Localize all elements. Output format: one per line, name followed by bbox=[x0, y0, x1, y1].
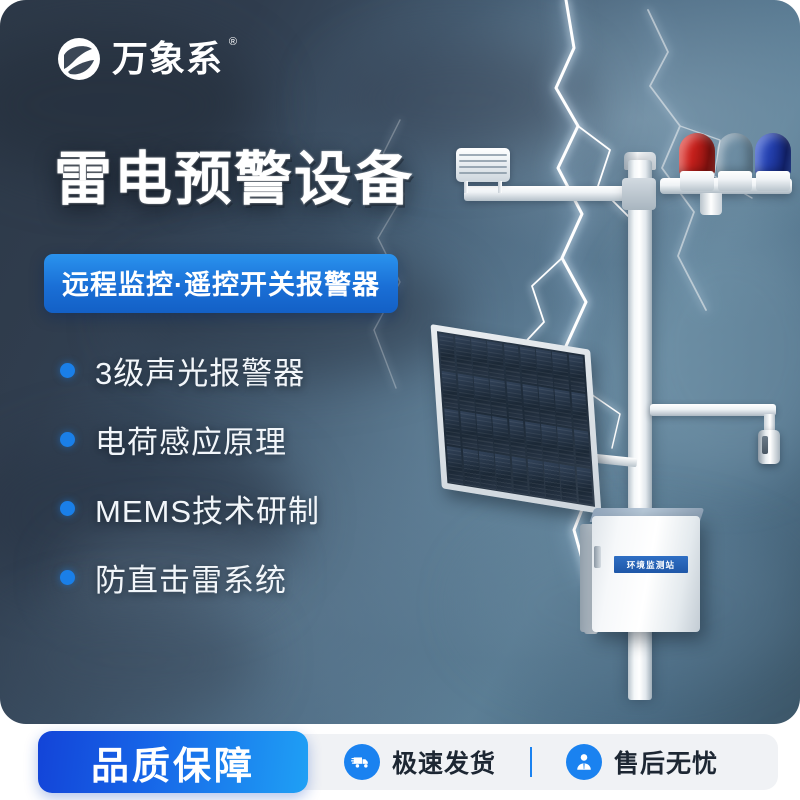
subtitle-badge: 远程监控·遥控开关报警器 bbox=[44, 254, 398, 313]
camera-support-arm bbox=[650, 404, 776, 416]
radiation-shield-sensor bbox=[456, 148, 510, 182]
feature-item: 3级声光报警器 bbox=[60, 348, 320, 393]
trademark-symbol: ® bbox=[229, 37, 238, 48]
solar-panel bbox=[431, 324, 602, 514]
camera-lens bbox=[762, 436, 768, 454]
feature-label: MEMS技术研制 bbox=[95, 486, 320, 531]
feature-label: 电荷感应原理 bbox=[95, 417, 287, 462]
feature-label: 防直击雷系统 bbox=[95, 555, 287, 600]
feature-item: 防直击雷系统 bbox=[60, 555, 320, 600]
sensor-support-legs bbox=[462, 181, 504, 193]
service-item-after-sales: 售后无忧 bbox=[566, 744, 718, 780]
support-agent-icon bbox=[566, 744, 602, 780]
control-cabinet: 环境监测站 bbox=[592, 516, 700, 632]
brand-name: 万象系 ® bbox=[112, 36, 223, 82]
solar-cell-grid bbox=[437, 331, 595, 507]
delivery-truck-icon bbox=[344, 744, 380, 780]
service-item-fast-shipping: 极速发货 bbox=[344, 744, 496, 780]
blue-alarm-beacon bbox=[755, 133, 791, 193]
crossarm-clamp bbox=[622, 178, 656, 210]
quality-guarantee-badge: 品质保障 bbox=[38, 731, 308, 793]
feature-label: 3级声光报警器 bbox=[95, 348, 305, 393]
brand-logo: 万象系 ® bbox=[56, 36, 223, 82]
red-alarm-beacon bbox=[679, 133, 715, 193]
beacon-shelf-stem bbox=[700, 193, 722, 215]
cabinet-latch bbox=[594, 546, 601, 568]
service-list: 极速发货 售后无忧 bbox=[286, 734, 778, 790]
brand-name-text: 万象系 bbox=[112, 38, 223, 79]
brand-swoosh-logo-icon bbox=[56, 36, 102, 82]
feature-item: MEMS技术研制 bbox=[60, 486, 320, 531]
trust-bar: 品质保障 极速发货 bbox=[0, 724, 800, 800]
feature-item: 电荷感应原理 bbox=[60, 417, 320, 462]
camera-sensor bbox=[758, 430, 780, 464]
cabinet-label: 环境监测站 bbox=[614, 556, 688, 573]
bullet-dot-icon bbox=[60, 570, 75, 585]
bullet-dot-icon bbox=[60, 363, 75, 378]
cloud-wisp bbox=[330, 40, 590, 160]
yellow-alarm-beacon bbox=[717, 133, 753, 193]
product-poster: 环境监测站 万象系 ® 雷电预警设备 远程监控·遥控开关报警器 3级声光报警器 … bbox=[0, 0, 800, 800]
bullet-dot-icon bbox=[60, 432, 75, 447]
service-label: 极速发货 bbox=[392, 744, 496, 780]
bullet-dot-icon bbox=[60, 501, 75, 516]
feature-list: 3级声光报警器 电荷感应原理 MEMS技术研制 防直击雷系统 bbox=[60, 348, 320, 600]
page-title: 雷电预警设备 bbox=[54, 148, 414, 212]
service-divider bbox=[530, 747, 532, 777]
service-label: 售后无忧 bbox=[614, 744, 718, 780]
cloud-wisp bbox=[0, 600, 260, 720]
